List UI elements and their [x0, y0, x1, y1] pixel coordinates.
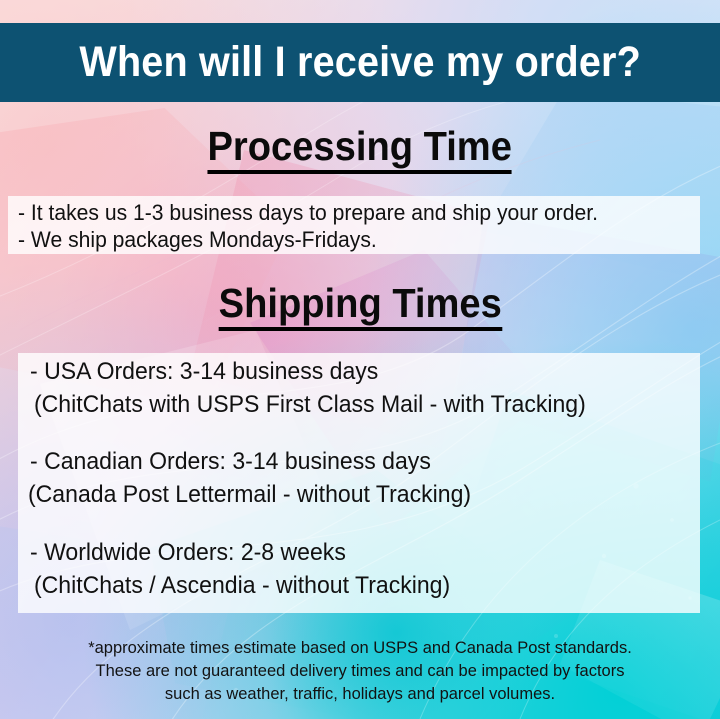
footer-disclaimer: *approximate times estimate based on USP… — [0, 636, 720, 705]
shipping-worldwide-title: - Worldwide Orders: 2-8 weeks — [30, 536, 450, 569]
processing-time-heading-text: Processing Time — [208, 126, 512, 174]
shipping-usa-detail: (ChitChats with USPS First Class Mail - … — [34, 388, 586, 421]
processing-line-2: - We ship packages Mondays-Fridays. — [18, 227, 377, 253]
shipping-usa-title: - USA Orders: 3-14 business days — [30, 355, 586, 388]
footer-line-3: such as weather, traffic, holidays and p… — [11, 682, 709, 705]
title-banner: When will I receive my order? — [0, 23, 720, 102]
shipping-canada-title: - Canadian Orders: 3-14 business days — [30, 445, 471, 478]
shipping-times-panel: - USA Orders: 3-14 business days (ChitCh… — [18, 353, 700, 613]
footer-line-1: *approximate times estimate based on USP… — [11, 636, 709, 659]
shipping-group-usa: - USA Orders: 3-14 business days (ChitCh… — [30, 355, 609, 421]
footer-line-2: These are not guaranteed delivery times … — [11, 659, 709, 682]
shipping-group-worldwide: - Worldwide Orders: 2-8 weeks (ChitChats… — [30, 536, 468, 602]
processing-time-panel: - It takes us 1-3 business days to prepa… — [8, 196, 700, 254]
shipping-group-canada: - Canadian Orders: 3-14 business days (C… — [30, 445, 490, 511]
section-heading-shipping-times: Shipping Times — [0, 283, 720, 331]
page-title: When will I receive my order? — [79, 41, 641, 84]
processing-line-1: - It takes us 1-3 business days to prepa… — [18, 200, 598, 226]
section-heading-processing-time: Processing Time — [0, 126, 720, 174]
shipping-times-heading-text: Shipping Times — [218, 283, 501, 331]
shipping-canada-detail: (Canada Post Lettermail - without Tracki… — [28, 478, 471, 511]
infographic-canvas: When will I receive my order? Processing… — [0, 0, 720, 719]
shipping-worldwide-detail: (ChitChats / Ascendia - without Tracking… — [34, 569, 450, 602]
